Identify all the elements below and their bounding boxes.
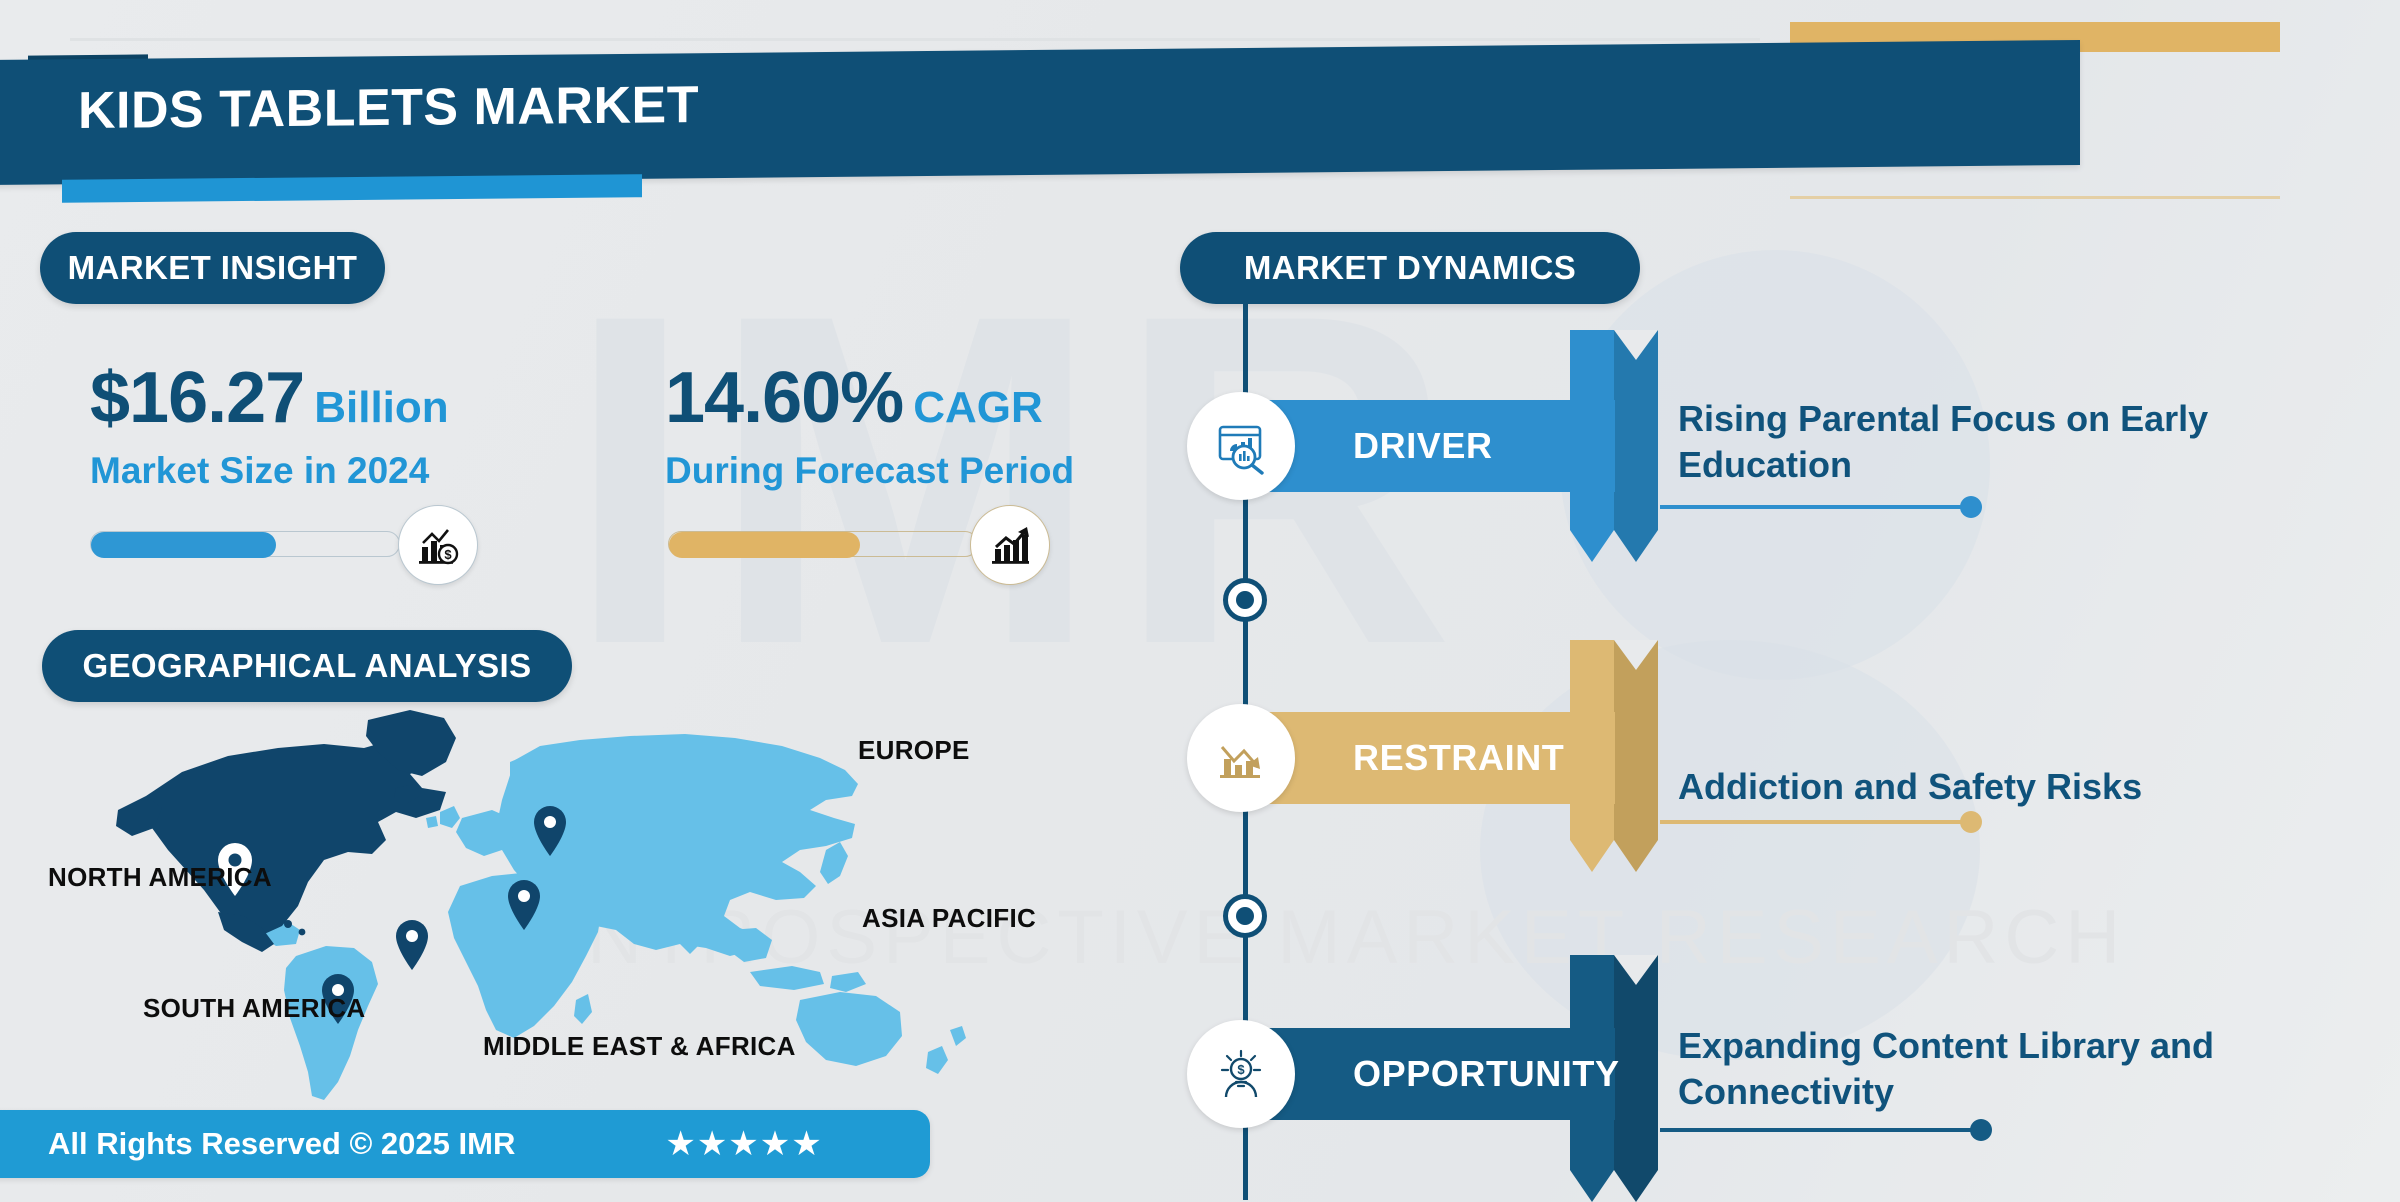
region-label-asia-pacific: ASIA PACIFIC (862, 903, 1036, 934)
page-title: KIDS TABLETS MARKET (78, 75, 699, 141)
section-pill-market-insight: MARKET INSIGHT (40, 232, 385, 304)
section-pill-geographical-analysis: GEOGRAPHICAL ANALYSIS (42, 630, 572, 702)
region-label-middle-east-africa: MIDDLE EAST & AFRICA (483, 1031, 796, 1062)
growth-arrow-chart-icon (970, 505, 1050, 585)
stat-value: 14.60% (665, 358, 903, 438)
dynamics-timeline-node-2 (1223, 894, 1267, 938)
section-pill-market-dynamics: MARKET DYNAMICS (1180, 232, 1640, 304)
declining-bar-chart-icon (1187, 704, 1295, 812)
stat-cagr: 14.60%CAGR During Forecast Period (665, 362, 1074, 492)
lightbulb-dollar-icon: $ (1187, 1020, 1295, 1128)
dynamics-text-restraint: Addiction and Safety Risks (1678, 764, 2298, 810)
cagr-progress-track (668, 531, 978, 557)
analytics-search-icon (1187, 392, 1295, 500)
region-label-north-america: NORTH AMERICA (48, 862, 272, 893)
stat-subtitle: Market Size in 2024 (90, 450, 449, 492)
footer-bar: All Rights Reserved © 2025 IMR ★★★★★ (0, 1110, 930, 1178)
dynamics-label-restraint: RESTRAINT (1353, 737, 1564, 779)
dynamics-label-opportunity: OPPORTUNITY (1353, 1053, 1620, 1095)
dynamics-ribbon-driver: DRIVER (1225, 400, 1615, 492)
copyright-text: All Rights Reserved © 2025 IMR (48, 1126, 515, 1162)
dynamics-rule-dot-opportunity (1970, 1119, 1992, 1141)
dynamics-rule-dot-driver (1960, 496, 1982, 518)
header-gold-hairline (1790, 196, 2280, 199)
infographic-canvas: IMR INTROSPECTIVE MARKET RESEARCH KIDS T… (0, 0, 2400, 1202)
rating-stars-icon: ★★★★★ (665, 1124, 822, 1164)
map-pin-middle-east-africa (396, 920, 428, 970)
dynamics-rule-dot-restraint (1960, 811, 1982, 833)
dynamics-ribbon-opportunity: $ OPPORTUNITY (1225, 1028, 1615, 1120)
watermark-blob-2 (1480, 640, 1980, 1060)
market-size-progress-fill (91, 532, 276, 558)
dynamics-rule-restraint (1660, 820, 1970, 824)
dynamics-rule-driver (1660, 505, 1970, 509)
stat-subtitle: During Forecast Period (665, 450, 1074, 492)
svg-text:$: $ (1237, 1062, 1245, 1077)
market-size-progress-track (90, 531, 400, 557)
dynamics-timeline-node-1 (1223, 578, 1267, 622)
dynamics-text-driver: Rising Parental Focus on Early Education (1678, 396, 2298, 487)
stat-unit: Billion (314, 383, 448, 432)
cagr-progress-fill (669, 532, 860, 558)
dynamics-ribbon-restraint: RESTRAINT (1225, 712, 1615, 804)
stat-market-size: $16.27Billion Market Size in 2024 (90, 362, 449, 492)
region-label-south-america: SOUTH AMERICA (143, 993, 366, 1024)
svg-text:$: $ (444, 547, 452, 562)
bar-chart-dollar-icon: $ (398, 505, 478, 585)
header-hairline (70, 38, 1760, 41)
dynamics-label-driver: DRIVER (1353, 425, 1493, 467)
stat-value: $16.27 (90, 358, 304, 438)
dynamics-rule-opportunity (1660, 1128, 1980, 1132)
stat-unit: CAGR (913, 383, 1043, 432)
dynamics-text-opportunity: Expanding Content Library and Connectivi… (1678, 1023, 2298, 1114)
region-label-europe: EUROPE (858, 735, 970, 766)
header-accent-bar (62, 174, 642, 203)
